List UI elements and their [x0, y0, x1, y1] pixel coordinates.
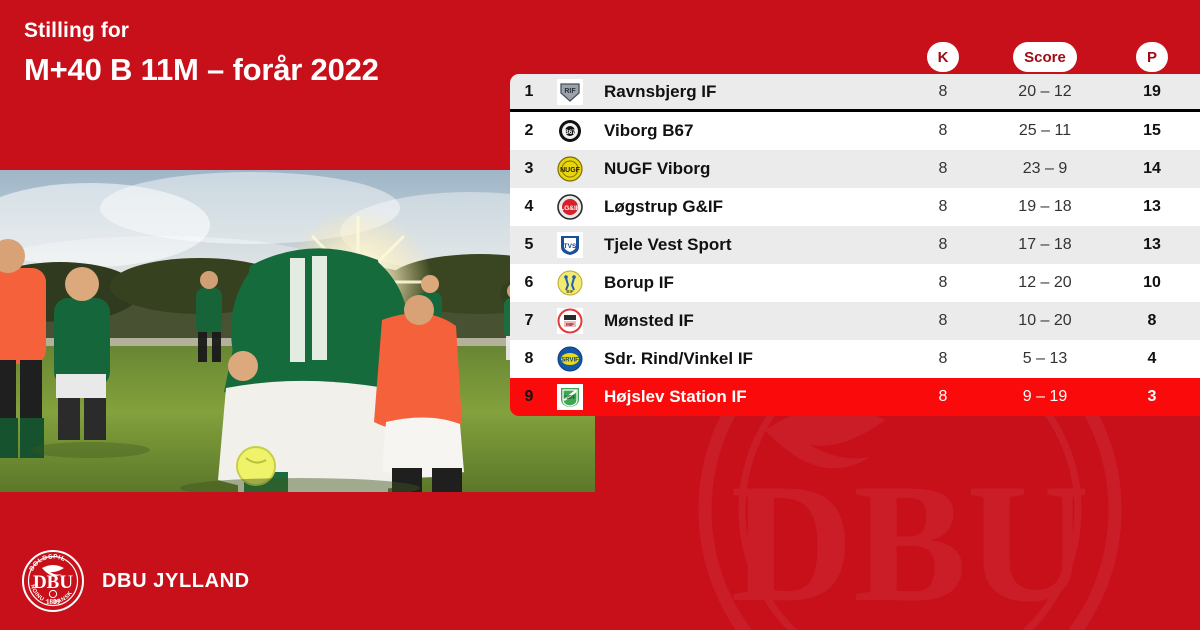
row-rank: 5 — [510, 236, 548, 254]
row-score: 20 – 12 — [986, 83, 1104, 101]
row-team-name: Mønsted IF — [592, 311, 900, 331]
row-matches: 8 — [900, 350, 986, 368]
row-rank: 1 — [510, 83, 548, 101]
header-cell-score: Score — [986, 42, 1104, 72]
svg-text:1889: 1889 — [856, 624, 964, 630]
header-cell-matches: K — [900, 42, 986, 72]
row-matches: 8 — [900, 388, 986, 406]
table-row[interactable]: 6 BIF Borup IF 8 12 – 20 10 — [510, 264, 1200, 302]
logo-nugf-viborg: NUGF — [548, 156, 592, 182]
logo-monsted-if: MIF — [548, 308, 592, 334]
table-row[interactable]: 8 SRVIF Sdr. Rind/Vinkel IF 8 5 – 13 4 — [510, 340, 1200, 378]
row-matches: 8 — [900, 83, 986, 101]
table-row[interactable]: 7 MIF Mønsted IF 8 10 – 20 8 — [510, 302, 1200, 340]
row-score: 23 – 9 — [986, 160, 1104, 178]
logo-hojslev-station-if: HSIF — [548, 384, 592, 410]
svg-text:BIF: BIF — [566, 289, 574, 294]
logo-tjele-vest-sport: TVS — [548, 232, 592, 258]
row-rank: 3 — [510, 160, 548, 178]
svg-text:HSIF: HSIF — [564, 395, 575, 401]
table-header: K Score P — [510, 40, 1200, 74]
row-matches: 8 — [900, 274, 986, 292]
row-matches: 8 — [900, 312, 986, 330]
svg-text:DBU: DBU — [33, 572, 73, 593]
table-row-highlighted[interactable]: 9 HSIF Højslev Station IF 8 9 – 19 3 — [510, 378, 1200, 416]
table-row[interactable]: 3 NUGF NUGF Viborg 8 23 – 9 14 — [510, 150, 1200, 188]
row-points: 10 — [1104, 274, 1200, 292]
hero-photo — [0, 170, 595, 492]
row-points: 14 — [1104, 160, 1200, 178]
row-score: 12 – 20 — [986, 274, 1104, 292]
row-score: 17 – 18 — [986, 236, 1104, 254]
row-team-name: Løgstrup G&IF — [592, 197, 900, 217]
header-cell-points: P — [1104, 42, 1200, 72]
row-points: 13 — [1104, 236, 1200, 254]
row-matches: 8 — [900, 122, 986, 140]
svg-text:TVS: TVS — [564, 243, 577, 250]
logo-borup-if: BIF — [548, 270, 592, 296]
svg-text:B67: B67 — [564, 130, 576, 136]
svg-text:1889: 1889 — [46, 598, 61, 606]
standings-table: 1 RIF Ravnsbjerg IF 8 20 – 12 19 2 B — [510, 74, 1200, 416]
svg-text:NUGF: NUGF — [560, 167, 581, 174]
row-team-name: Højslev Station IF — [592, 387, 900, 407]
row-points: 15 — [1104, 122, 1200, 140]
row-rank: 9 — [510, 388, 548, 406]
logo-viborg-b67: B67 — [548, 118, 592, 144]
row-team-name: Borup IF — [592, 273, 900, 293]
row-rank: 2 — [510, 122, 548, 140]
header-badge-points: P — [1136, 42, 1168, 72]
standings-graphic: DBU 1889 Stilling for M+40 B 11M – forår… — [0, 0, 1200, 630]
row-score: 9 – 19 — [986, 388, 1104, 406]
row-team-name: Tjele Vest Sport — [592, 235, 900, 255]
table-row[interactable]: 4 LG&IF Løgstrup G&IF 8 19 – 18 13 — [510, 188, 1200, 226]
dbu-logo-icon: BOLDSPIL NOINU · · DANSK DBU 1889 — [22, 550, 84, 612]
logo-sdr-rind-vinkel-if: SRVIF — [548, 346, 592, 372]
row-score: 5 – 13 — [986, 350, 1104, 368]
header-badge-score: Score — [1013, 42, 1077, 72]
svg-text:DBU: DBU — [731, 449, 1090, 630]
kicker-label: Stilling for — [24, 18, 494, 44]
row-team-name: NUGF Viborg — [592, 159, 900, 179]
svg-text:MIF: MIF — [566, 322, 574, 327]
row-score: 10 – 20 — [986, 312, 1104, 330]
header-badge-matches: K — [927, 42, 960, 72]
row-matches: 8 — [900, 198, 986, 216]
row-rank: 6 — [510, 274, 548, 292]
row-rank: 7 — [510, 312, 548, 330]
title-block: Stilling for M+40 B 11M – forår 2022 — [24, 18, 494, 90]
row-points: 4 — [1104, 350, 1200, 368]
logo-ravnsbjerg-if: RIF — [548, 79, 592, 105]
table-row[interactable]: 2 B67 Viborg B67 8 25 – 11 15 — [510, 112, 1200, 150]
row-score: 25 – 11 — [986, 122, 1104, 140]
svg-text:LG&IF: LG&IF — [560, 205, 580, 212]
row-points: 13 — [1104, 198, 1200, 216]
page-title: M+40 B 11M – forår 2022 — [24, 50, 494, 90]
row-rank: 4 — [510, 198, 548, 216]
row-points: 19 — [1104, 83, 1200, 101]
footer-brand: BOLDSPIL NOINU · · DANSK DBU 1889 DBU JY… — [22, 546, 250, 616]
row-matches: 8 — [900, 236, 986, 254]
footer-brand-name: DBU JYLLAND — [102, 570, 250, 593]
row-team-name: Sdr. Rind/Vinkel IF — [592, 349, 900, 369]
row-points: 3 — [1104, 388, 1200, 406]
row-rank: 8 — [510, 350, 548, 368]
row-team-name: Ravnsbjerg IF — [592, 82, 900, 102]
row-team-name: Viborg B67 — [592, 121, 900, 141]
svg-text:SRVIF: SRVIF — [561, 358, 579, 364]
svg-text:RIF: RIF — [564, 88, 576, 95]
row-matches: 8 — [900, 160, 986, 178]
table-row[interactable]: 1 RIF Ravnsbjerg IF 8 20 – 12 19 — [510, 74, 1200, 112]
logo-logstrup-gif: LG&IF — [548, 194, 592, 220]
table-row[interactable]: 5 TVS Tjele Vest Sport 8 17 – 18 13 — [510, 226, 1200, 264]
row-points: 8 — [1104, 312, 1200, 330]
row-score: 19 – 18 — [986, 198, 1104, 216]
